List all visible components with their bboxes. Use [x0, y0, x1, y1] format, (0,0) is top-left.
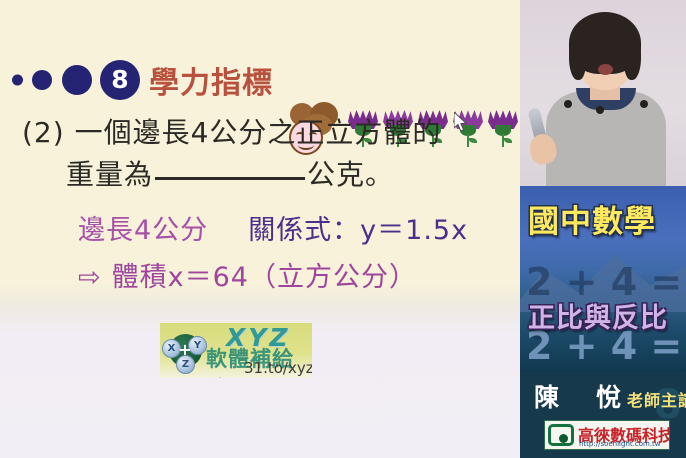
decorative-dot-large — [62, 65, 92, 95]
question-text-2-prefix: 重量為 — [66, 158, 153, 191]
company-url-text: http://soenlight.com.tw — [579, 440, 661, 448]
course-subtitle: 正比與反比 — [528, 296, 668, 335]
presenter-button-left — [564, 100, 572, 108]
course-title-banner: 2 + 4 = 6 2 + 4 = 6 國中數學 正比與反比 — [520, 186, 686, 372]
presenter-hair-left — [569, 36, 586, 80]
flower-leaf — [504, 138, 512, 143]
presenter-role-text: 老師主講 — [627, 391, 686, 410]
section-number-badge: 8 — [100, 60, 140, 100]
question-line-1: (2) 一個邊長4公分之正立方體的 — [22, 112, 492, 154]
right-sidebar: 2 + 4 = 6 2 + 4 = 6 國中數學 正比與反比 8 陳 悅老師主講… — [520, 0, 686, 458]
globe-plus-icon: + — [178, 343, 192, 357]
course-title: 國中數學 — [528, 196, 656, 241]
presenter-video[interactable] — [520, 0, 686, 186]
company-logo-mark — [548, 424, 574, 446]
decorative-dot-small — [12, 75, 23, 86]
question-block: (2) 一個邊長4公分之正立方體的 重量為公克。 — [22, 112, 492, 196]
xyz-globe-icon: X Y Z + — [162, 327, 208, 375]
question-text-1: 一個邊長4公分之正立方體的 — [75, 116, 442, 149]
presenter-hair-right — [624, 36, 641, 80]
arrow-right-icon: ⇨ — [78, 262, 102, 293]
answer-blank — [155, 159, 305, 180]
presenter-name-text: 陳 悅 — [534, 383, 627, 412]
credits-block: 8 陳 悅老師主講 高徠數碼科技 http://soenlight.com.tw — [520, 372, 686, 458]
section-title: 學力指標 — [149, 58, 273, 102]
question-text-2-suffix: 公克。 — [307, 158, 394, 191]
solution-line-2: ⇨體積x＝64（立方公分） — [78, 255, 417, 294]
solution-volume-result: 體積x＝64（立方公分） — [112, 262, 417, 293]
xyz-url-text: 31.to/xyz — [244, 359, 312, 377]
presenter-credit: 陳 悅老師主講 — [534, 378, 686, 414]
company-logo: 高徠數碼科技 http://soenlight.com.tw — [544, 420, 670, 450]
solution-line-1: 邊長4公分關係式：y＝1.5x — [78, 208, 468, 247]
xyz-watermark-logo: X Y Z + XYZ 軟體補給站 31.to/xyz — [160, 323, 312, 378]
company-logo-dot — [559, 434, 568, 443]
presenter-button-right — [640, 100, 648, 108]
presenter-mouth — [598, 64, 613, 75]
lecture-slide: 8 學力指標 — [0, 0, 520, 458]
solution-relation-formula: 關係式：y＝1.5x — [248, 215, 468, 246]
decorative-dot-medium — [32, 70, 52, 90]
question-line-2: 重量為公克。 — [22, 154, 492, 196]
lapel-microphone-icon — [596, 106, 604, 114]
question-number: (2) — [22, 116, 65, 149]
slide-header: 8 學力指標 — [0, 52, 520, 108]
flower-icon-5 — [488, 108, 518, 150]
solution-given-value: 邊長4公分 — [78, 215, 208, 246]
presenter-eye-right — [614, 48, 622, 52]
video-player-screen: 8 學力指標 — [0, 0, 686, 458]
presenter-eye-left — [586, 48, 594, 52]
